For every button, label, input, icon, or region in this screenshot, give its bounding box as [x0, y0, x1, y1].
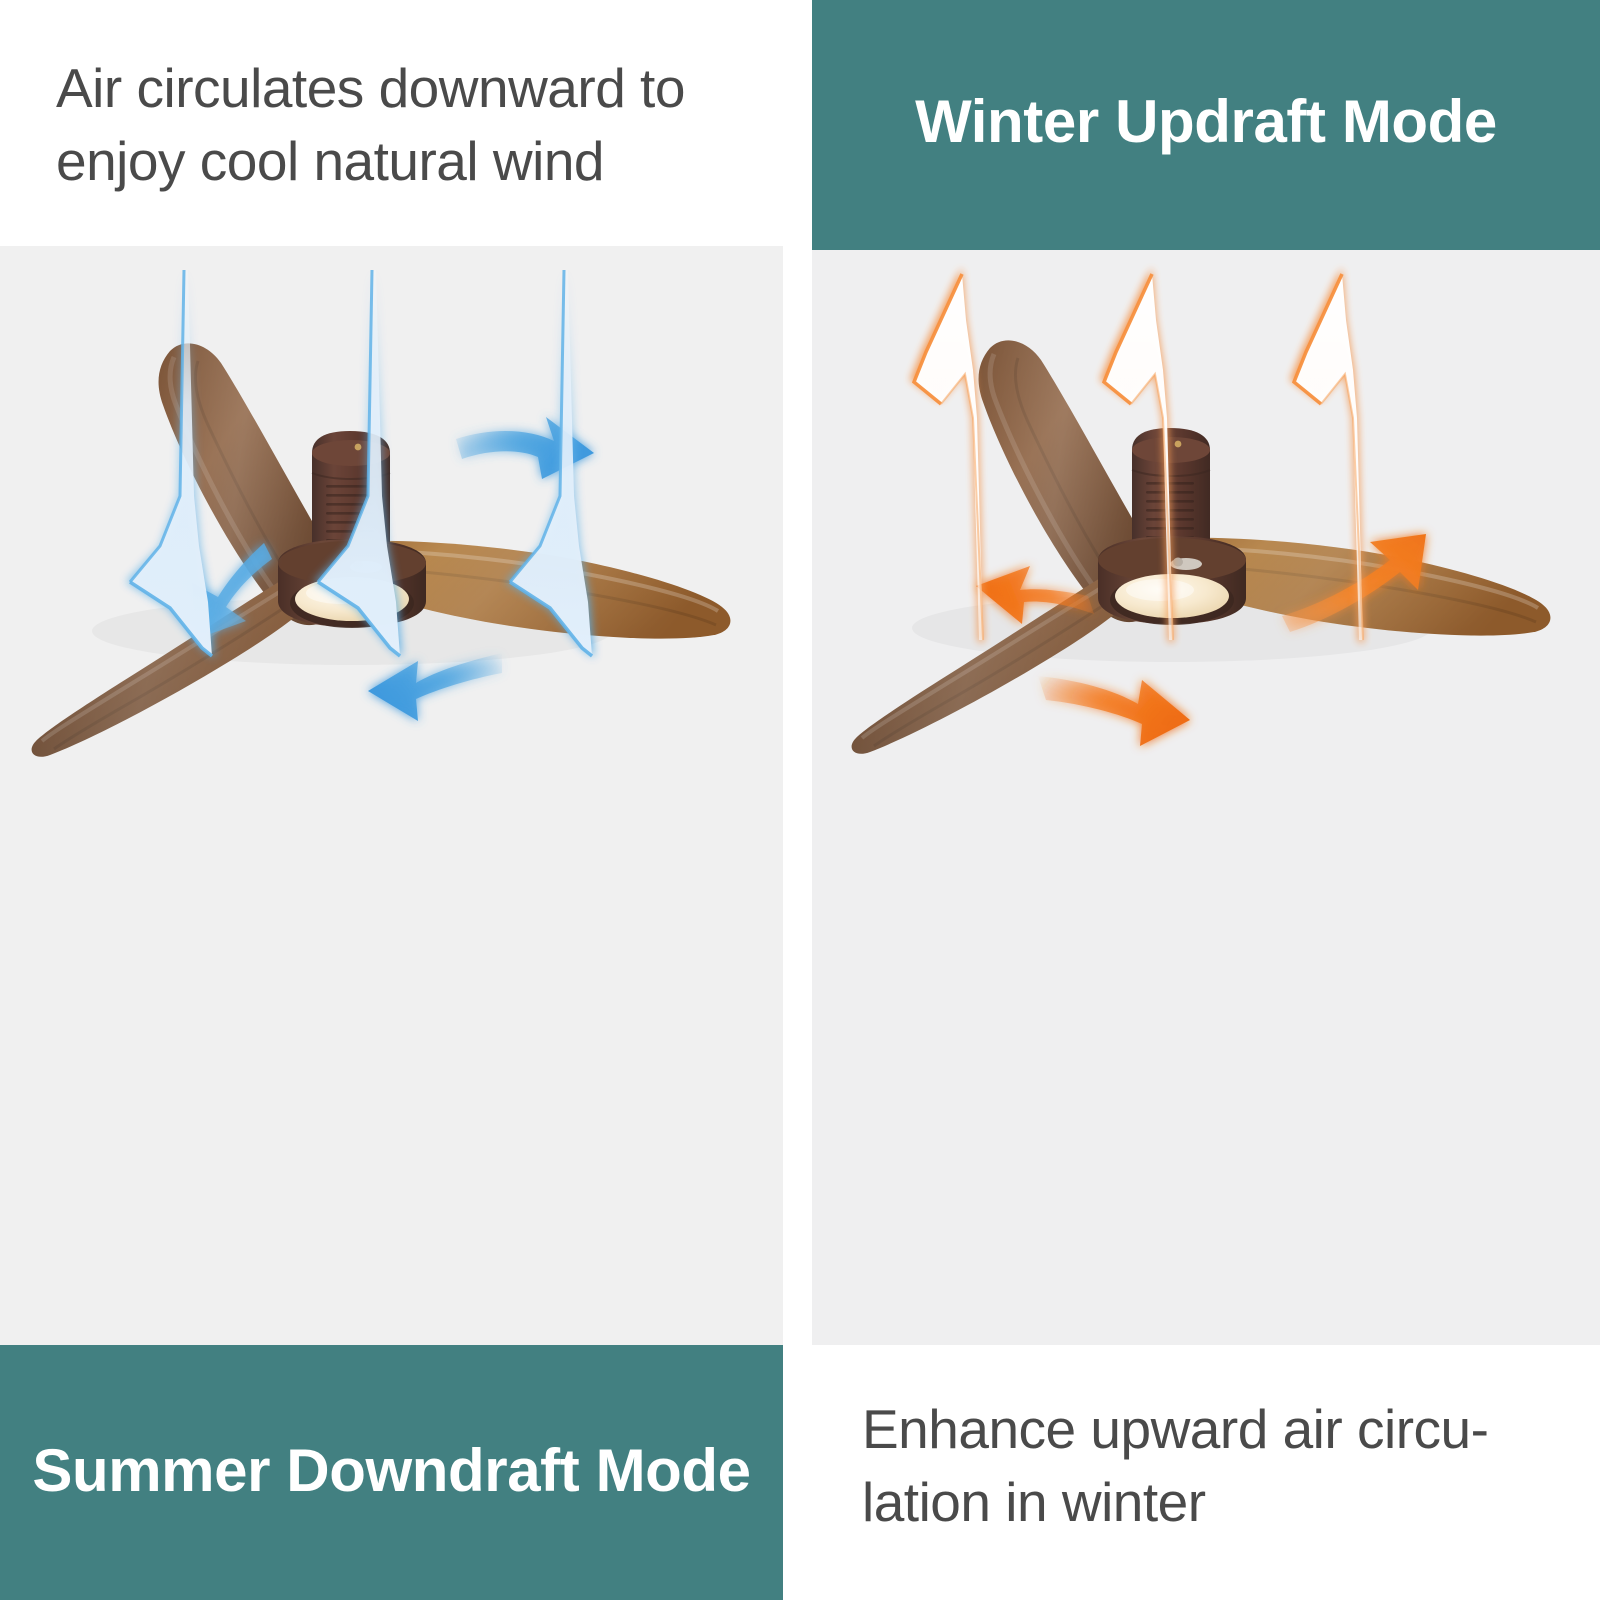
summer-mode-title-text: Summer Downdraft Mode	[0, 1345, 783, 1600]
winter-updraft-photo-panel	[812, 250, 1600, 1345]
summer-mode-title-block: Summer Downdraft Mode	[0, 1345, 783, 1600]
fan-light-housing	[1098, 536, 1246, 625]
airflow-arrow-right-down	[456, 417, 594, 479]
winter-mode-title-block: Winter Updraft Mode	[812, 0, 1600, 250]
summer-downdraft-photo-panel	[0, 246, 783, 1345]
winter-mode-title-text: Winter Updraft Mode	[812, 0, 1600, 250]
bottom-right-caption-block: Enhance upward air circu-lation in winte…	[812, 1345, 1600, 1600]
fan-light-housing	[278, 539, 426, 628]
ceiling-fan-summer	[22, 331, 782, 761]
bottom-right-caption-text: Enhance upward air circu-lation in winte…	[812, 1345, 1600, 1600]
ceiling-fan-winter	[842, 328, 1600, 758]
top-left-caption-block: Air circulates downward to enjoy cool na…	[0, 0, 783, 246]
top-left-caption-text: Air circulates downward to enjoy cool na…	[0, 0, 783, 246]
fan-blade-lower-left	[32, 573, 320, 757]
infographic-sheet: Air circulates downward to enjoy cool na…	[0, 0, 1600, 1600]
airflow-arrow-down-right	[1038, 676, 1190, 746]
